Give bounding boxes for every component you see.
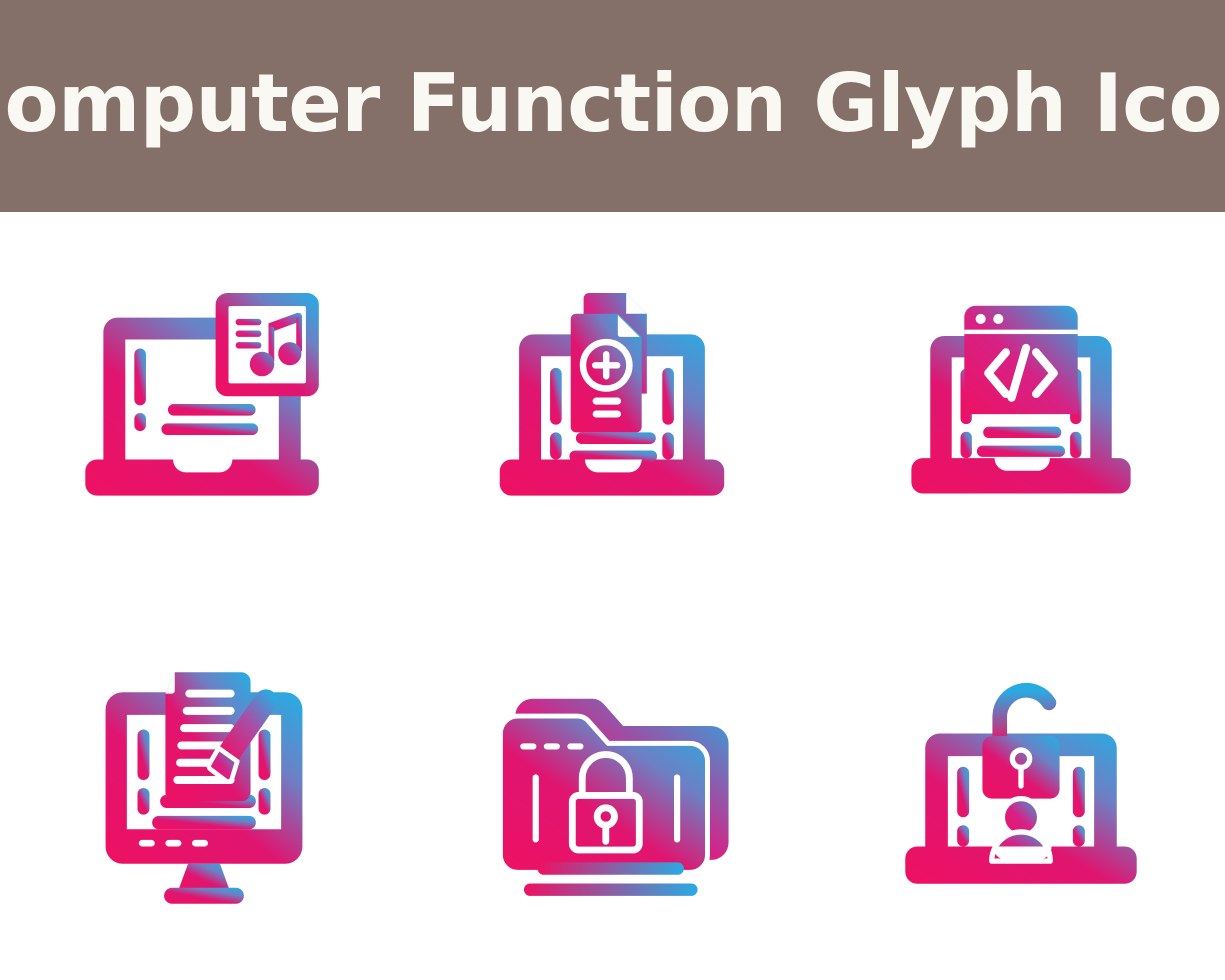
- laptop-music-media-icon: [75, 275, 333, 533]
- header-band: Computer Function Glyph Icon: [0, 0, 1225, 212]
- folder-bar-right: [674, 774, 680, 842]
- secure-folder-lock-icon: [488, 664, 736, 912]
- folder-bar-left: [533, 774, 539, 842]
- monitor-bezel-dashes: [139, 840, 208, 847]
- document-line-1: [593, 398, 621, 405]
- trackpad-notch: [585, 459, 642, 472]
- trackpad-notch: [993, 847, 1052, 860]
- icon-cell-secure-folder-lock[interactable]: [408, 596, 816, 980]
- browser-dot-1: [975, 314, 985, 324]
- folder-shadow-line-2: [524, 883, 698, 895]
- browser-titlebar-divider: [964, 330, 1077, 334]
- folder-shadow-line-1: [538, 862, 684, 874]
- icon-grid: [0, 212, 1225, 980]
- monitor-document-edit-icon: [71, 655, 337, 921]
- icon-cell-laptop-code-window[interactable]: [817, 212, 1225, 596]
- document-line-2: [593, 410, 621, 417]
- folder-dashes: [521, 743, 584, 749]
- laptop-unlocked-user-icon: [888, 655, 1154, 921]
- trackpad-notch: [173, 459, 232, 472]
- icon-cell-laptop-unlocked-user[interactable]: [817, 596, 1225, 980]
- document-fold: [166, 672, 175, 693]
- page-title: Computer Function Glyph Icon: [0, 64, 1225, 144]
- laptop-code-window-icon: [895, 278, 1147, 530]
- icon-cell-laptop-add-document[interactable]: [408, 212, 816, 596]
- icon-cell-laptop-music-media[interactable]: [0, 212, 408, 596]
- trackpad-notch: [994, 458, 1049, 471]
- browser-dot-2: [993, 314, 1003, 324]
- icon-cell-monitor-document-edit[interactable]: [0, 596, 408, 980]
- document-back-fold: [627, 293, 648, 314]
- laptop-add-document-icon: [483, 275, 741, 533]
